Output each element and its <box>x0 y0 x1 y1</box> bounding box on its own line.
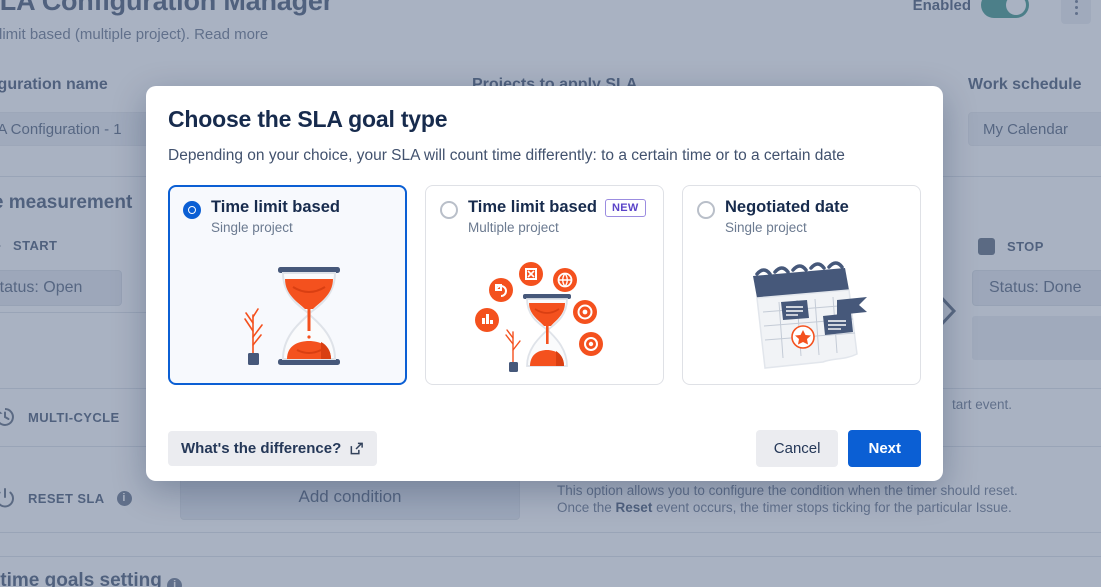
option-title-row: Negotiated date <box>725 198 906 217</box>
radio-time-limit-multiple[interactable] <box>440 201 458 219</box>
radio-time-limit-single[interactable] <box>183 201 201 219</box>
goal-type-options: Time limit based Single project <box>168 185 921 385</box>
option-card-time-limit-single[interactable]: Time limit based Single project <box>168 185 407 385</box>
option-title-row: Time limit based <box>211 198 392 217</box>
option-title-row: Time limit based NEW <box>468 198 649 217</box>
option-title: Time limit based <box>468 198 597 217</box>
option-subtitle: Single project <box>211 220 392 235</box>
whats-the-difference-label: What's the difference? <box>181 440 341 457</box>
dialog-footer: What's the difference? Cancel Next <box>168 430 921 467</box>
option-card-time-limit-multiple[interactable]: Time limit based NEW Multiple project <box>425 185 664 385</box>
option-text: Negotiated date Single project <box>725 198 906 235</box>
option-text: Time limit based Single project <box>211 198 392 235</box>
radio-negotiated-date[interactable] <box>697 201 715 219</box>
dialog-title: Choose the SLA goal type <box>168 106 921 133</box>
option-card-negotiated-date[interactable]: Negotiated date Single project <box>682 185 921 385</box>
calendar-illustration <box>683 258 920 376</box>
option-header: Time limit based Single project <box>183 198 392 235</box>
cancel-button[interactable]: Cancel <box>756 430 839 467</box>
option-title: Negotiated date <box>725 198 849 217</box>
option-subtitle: Single project <box>725 220 906 235</box>
sla-goal-type-dialog: Choose the SLA goal type Depending on yo… <box>146 86 943 481</box>
option-header: Negotiated date Single project <box>697 198 906 235</box>
hourglass-single-illustration <box>170 257 405 375</box>
hourglass-multi-illustration <box>426 258 663 376</box>
option-title: Time limit based <box>211 198 340 217</box>
dialog-actions: Cancel Next <box>756 430 921 467</box>
whats-the-difference-button[interactable]: What's the difference? <box>168 431 377 466</box>
external-link-icon <box>349 441 364 456</box>
option-subtitle: Multiple project <box>468 220 649 235</box>
option-header: Time limit based NEW Multiple project <box>440 198 649 235</box>
new-badge: NEW <box>605 199 646 217</box>
option-text: Time limit based NEW Multiple project <box>468 198 649 235</box>
next-button[interactable]: Next <box>848 430 921 467</box>
dialog-description: Depending on your choice, your SLA will … <box>168 145 903 167</box>
